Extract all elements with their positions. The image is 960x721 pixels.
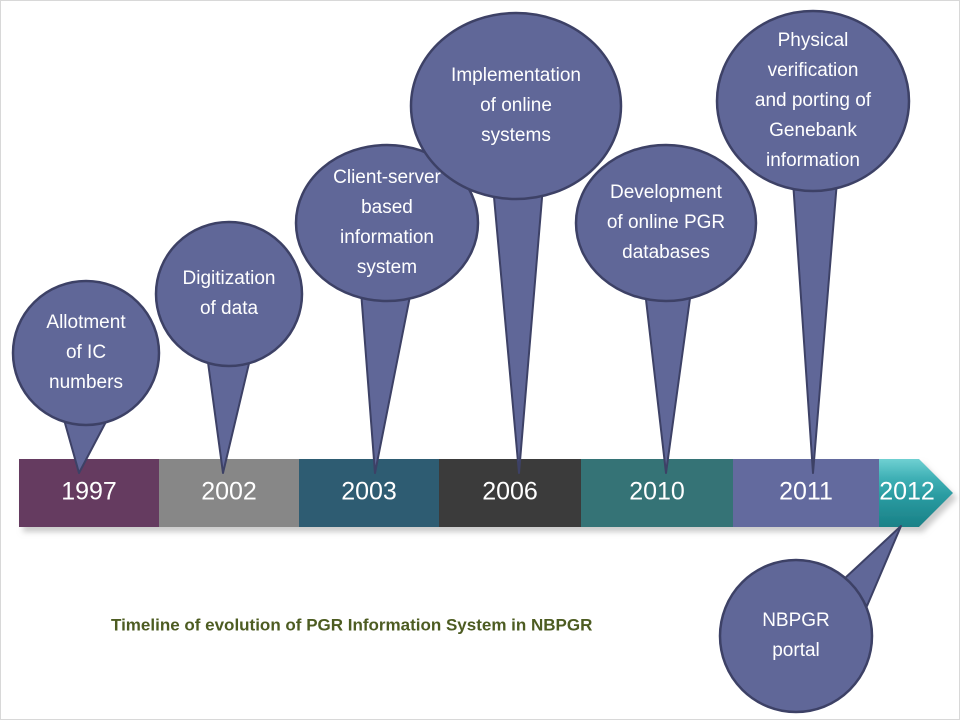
callout-1997[interactable]: Allotmentof ICnumbers <box>13 281 159 425</box>
year-label-2006: 2006 <box>482 478 538 506</box>
callout-2006[interactable]: Implementationof onlinesystems <box>411 13 621 199</box>
year-label-2003: 2003 <box>341 478 397 506</box>
callout-2002-tail <box>207 355 251 473</box>
callout-2006-line-3: systems <box>481 125 551 146</box>
callout-2011-line-5: information <box>766 150 860 171</box>
callout-2011-line-1: Physical <box>778 30 849 51</box>
year-label-2002: 2002 <box>201 478 257 506</box>
timeline-diagram: Allotmentof ICnumbersDigitizationof data… <box>1 1 960 721</box>
callout-2002-line-1: Digitization <box>183 268 276 289</box>
callout-1997-line-2: of IC <box>66 342 106 363</box>
callout-2003-tail <box>361 291 411 473</box>
callout-2012-shape <box>720 560 872 712</box>
callout-2006-line-1: Implementation <box>451 65 581 86</box>
callout-2003-line-3: information <box>340 227 434 248</box>
callout-2011-tail <box>793 181 837 473</box>
callout-2012[interactable]: NBPGRportal <box>720 560 872 712</box>
callout-2002[interactable]: Digitizationof data <box>156 222 302 366</box>
callout-2011-line-3: and porting of <box>755 90 872 111</box>
callout-2006-tail <box>493 186 543 473</box>
callout-2012-line-1: NBPGR <box>762 610 830 631</box>
year-label-2012: 2012 <box>879 478 935 506</box>
year-label-2011: 2011 <box>779 478 833 506</box>
figure-canvas: Allotmentof ICnumbersDigitizationof data… <box>0 0 960 720</box>
callout-2006-line-2: of online <box>480 95 552 116</box>
callout-2003-line-2: based <box>361 197 413 218</box>
callout-1997-line-1: Allotment <box>46 312 126 333</box>
callout-2003-line-1: Client-server <box>333 167 441 188</box>
callout-2011[interactable]: Physicalverificationand porting ofGeneba… <box>717 11 909 191</box>
callout-2010-line-3: databases <box>622 242 710 263</box>
callout-bubbles: Allotmentof ICnumbersDigitizationof data… <box>13 11 909 712</box>
callout-2011-line-2: verification <box>768 60 859 81</box>
figure-caption: Timeline of evolution of PGR Information… <box>111 615 592 634</box>
year-label-2010: 2010 <box>629 478 685 506</box>
callout-2002-shape <box>156 222 302 366</box>
callout-2010-tail <box>645 291 691 473</box>
callout-2003-line-4: system <box>357 257 417 278</box>
callout-2010-line-2: of online PGR <box>607 212 725 233</box>
callout-2011-line-4: Genebank <box>769 120 857 141</box>
callout-2010[interactable]: Developmentof online PGRdatabases <box>576 145 756 301</box>
year-label-1997: 1997 <box>61 478 117 506</box>
callout-1997-line-3: numbers <box>49 372 123 393</box>
callout-2002-line-2: of data <box>200 298 259 319</box>
callout-2012-line-2: portal <box>772 640 820 661</box>
callout-2010-line-1: Development <box>610 182 723 203</box>
